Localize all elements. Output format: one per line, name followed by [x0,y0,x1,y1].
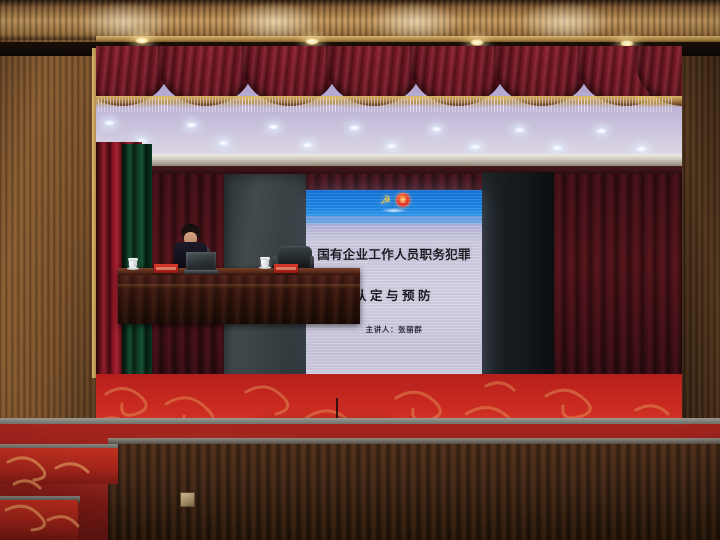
wall-power-outlet [180,492,195,507]
soffit-downlight [135,37,149,44]
national-emblem-icon [396,193,410,207]
stage-downlight [268,124,279,130]
stage-downlight [552,145,563,151]
lidded-teacup-left [128,258,138,270]
photo-canvas: ☭ 国有企业工作人员职务犯罪 认定与预防 主讲人：张丽群 [0,0,720,540]
slide-emblem-group: ☭ [306,193,482,207]
slide-title-line-1: 国有企业工作人员职务犯罪 [306,244,482,263]
valance-swag [326,46,422,106]
slide-presenter-label: 主讲人：张丽群 [306,324,482,335]
red-name-placard-right [274,264,298,273]
valance-fringe [242,98,338,112]
valance-fringe [410,98,506,112]
red-name-placard-left [154,264,178,273]
cpc-hammer-sickle-emblem-icon: ☭ [378,194,393,207]
emblem-light-flare [381,208,407,213]
lidded-teacup-right [260,257,270,269]
valance-swag [410,46,506,106]
stage-front-wood-panel [108,444,720,540]
valance-fringe [494,98,590,112]
teacup-lid [128,258,138,261]
head-table [118,268,360,324]
screen-right-dark-panel [482,172,554,408]
slide-band-glow [306,216,482,232]
stage-cornice [96,154,682,166]
step-carpet-pattern [0,448,120,540]
left-wood-wall [0,0,104,470]
stage-downlight [386,143,397,149]
open-laptop [184,252,218,274]
soffit-downlight [305,38,319,45]
teacup-lid [260,257,270,260]
stage-downlight [186,122,197,128]
stage-downlight [596,128,607,134]
teacup-saucer [127,267,139,270]
stage-downlight [302,142,313,148]
stage-downlight [218,140,229,146]
proscenium-opening: ☭ 国有企业工作人员职务犯罪 认定与预防 主讲人：张丽群 [96,46,682,470]
stage-downlight [470,144,481,150]
laptop-keyboard-base [184,270,218,274]
stage-downlight [514,127,525,133]
stage-downlight [636,146,647,152]
laptop-screen-back [186,252,216,271]
teacup-saucer [259,266,271,269]
ceiling-soffit [0,0,720,40]
stage-downlight [349,125,360,131]
valance-swag [242,46,338,106]
curtain-valance [96,46,682,112]
soffit-downlight [470,39,484,46]
valance-swag [636,46,682,106]
valance-swag [494,46,590,106]
valance-fringe [158,98,254,112]
valance-fringe [578,98,674,112]
valance-swag [158,46,254,106]
valance-fringe [326,98,422,112]
stage-downlight [104,120,115,126]
table-front-lip [118,284,360,288]
stage-downlight [431,126,442,132]
